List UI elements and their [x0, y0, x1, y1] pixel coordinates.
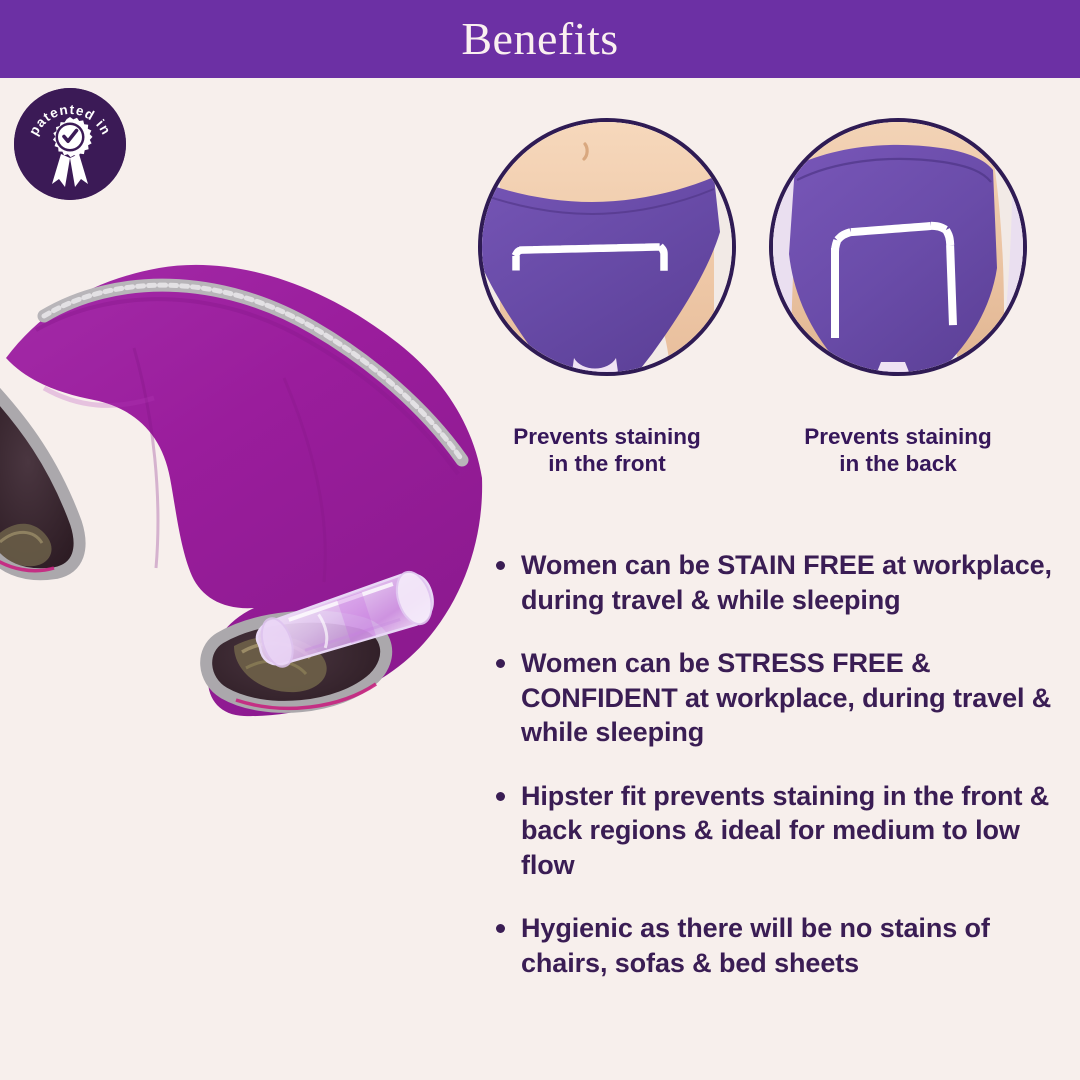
list-item: Hipster fit prevents staining in the fro… — [496, 779, 1068, 883]
caption-back: Prevents staining in the back — [748, 423, 1048, 478]
ribbon-check-seal-icon: patented in — [14, 88, 126, 200]
list-item: Hygienic as there will be no stains of c… — [496, 911, 1068, 980]
benefit-text: Women can be STRESS FREE & CONFIDENT at … — [521, 646, 1068, 750]
list-item: Women can be STAIN FREE at workplace, du… — [496, 548, 1068, 617]
header-banner: Benefits — [0, 0, 1080, 78]
patented-in-badge: patented in — [14, 88, 126, 200]
page-title: Benefits — [461, 16, 618, 62]
back-view-illustration — [773, 122, 1023, 372]
caption-front: Prevents staining in the front — [457, 423, 757, 478]
bullet-icon — [496, 924, 505, 933]
benefit-text: Hipster fit prevents staining in the fro… — [521, 779, 1068, 883]
list-item: Women can be STRESS FREE & CONFIDENT at … — [496, 646, 1068, 750]
caption-back-line2: in the back — [748, 450, 1048, 477]
caption-front-line2: in the front — [457, 450, 757, 477]
benefit-text: Women can be STAIN FREE at workplace, du… — [521, 548, 1068, 617]
benefit-text: Hygienic as there will be no stains of c… — [521, 911, 1068, 980]
front-view-illustration — [482, 122, 732, 372]
feature-circle-back — [769, 118, 1027, 376]
bullet-icon — [496, 561, 505, 570]
caption-front-line1: Prevents staining — [457, 423, 757, 450]
period-underwear-product-photo — [0, 238, 484, 778]
bullet-icon — [496, 659, 505, 668]
feature-circle-front — [478, 118, 736, 376]
underwear-illustration — [0, 238, 484, 778]
bullet-icon — [496, 792, 505, 801]
benefits-list: Women can be STAIN FREE at workplace, du… — [496, 548, 1068, 980]
caption-back-line1: Prevents staining — [748, 423, 1048, 450]
